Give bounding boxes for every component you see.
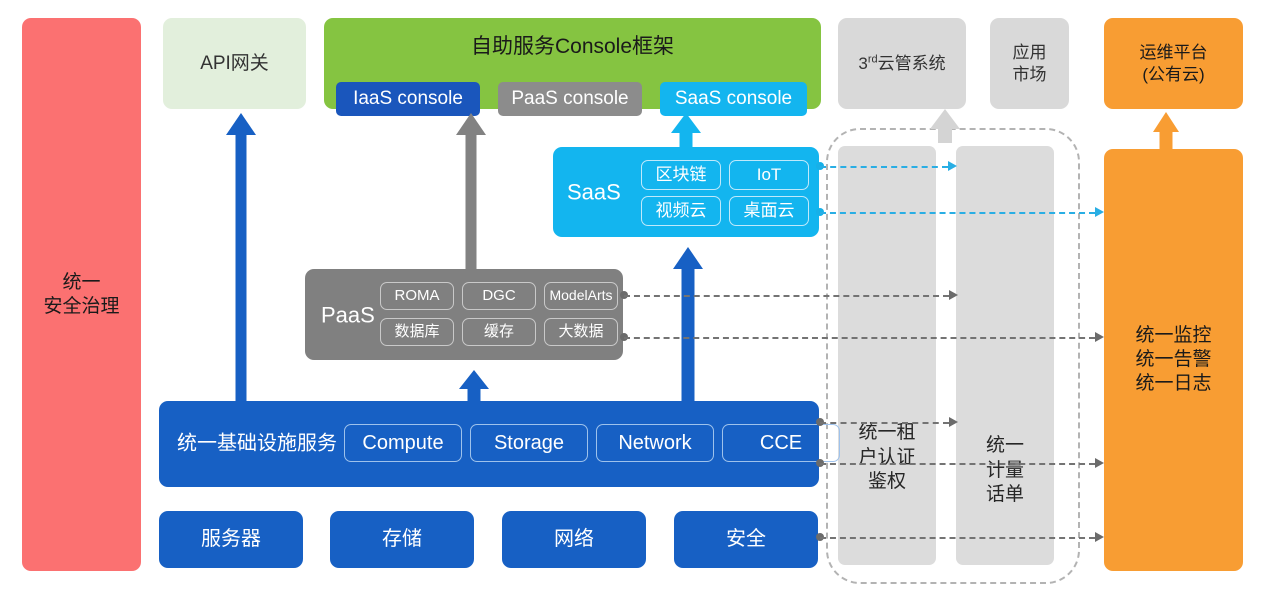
billing-line3: 话单 xyxy=(986,484,1024,505)
saas-console-chip[interactable]: SaaS console xyxy=(660,82,807,116)
connector-arrowhead-paas-auth xyxy=(949,290,958,300)
paas-tile-dgc[interactable]: DGC xyxy=(462,282,536,310)
arrow-infra-to-saas xyxy=(673,247,703,401)
arrow-saas-to-saas-console xyxy=(671,113,701,147)
connector-arrowhead-infra-auth xyxy=(949,417,958,427)
api-gateway-label: API网关 xyxy=(200,52,269,76)
paas-tile-bigdata[interactable]: 大数据 xyxy=(544,318,618,346)
connector-arrowhead-infra-ops xyxy=(1095,458,1104,468)
iaas-console-label: IaaS console xyxy=(353,87,463,111)
unified-billing-label: 统一 计量 话单 xyxy=(956,434,1054,508)
infra-tile-compute[interactable]: Compute xyxy=(344,424,462,462)
infra-tile-compute-label: Compute xyxy=(362,431,443,456)
unified-tenant-auth-label: 统一租 户认证 鉴权 xyxy=(838,421,936,495)
connector-saas-to-ops xyxy=(820,212,1095,214)
app-market-box[interactable]: 应用 市场 xyxy=(990,18,1069,109)
unified-billing-bar[interactable]: 统一 计量 话单 xyxy=(956,146,1054,565)
infra-tile-network-label: Network xyxy=(618,431,691,456)
resource-box-server-label: 服务器 xyxy=(201,527,261,552)
ops-column-line3: 统一日志 xyxy=(1135,372,1211,396)
saas-tile-desktop-cloud[interactable]: 桌面云 xyxy=(729,196,809,226)
third-party-suffix: 云管系统 xyxy=(878,54,946,73)
infra-tile-storage[interactable]: Storage xyxy=(470,424,588,462)
paas-tile-bigdata-label: 大数据 xyxy=(558,323,603,342)
app-market-line1: 应用 xyxy=(1013,42,1047,63)
resource-box-network-label: 网络 xyxy=(554,527,594,552)
paas-layer-label: PaaS xyxy=(321,301,375,329)
paas-tile-cache[interactable]: 缓存 xyxy=(462,318,536,346)
arrow-paas-to-console xyxy=(456,113,486,269)
connector-arrowhead-saas-ops xyxy=(1095,207,1104,217)
paas-console-label: PaaS console xyxy=(511,87,628,111)
billing-line1: 统一 xyxy=(986,435,1024,456)
unified-tenant-auth-bar[interactable]: 统一租 户认证 鉴权 xyxy=(838,146,936,565)
connector-saas-to-auth xyxy=(820,166,948,168)
infra-tile-storage-label: Storage xyxy=(494,431,564,456)
ops-platform-box[interactable]: 运维平台 (公有云) xyxy=(1104,18,1243,109)
paas-tile-dgc-label: DGC xyxy=(482,287,515,306)
connector-arrowhead-resources-ops xyxy=(1095,532,1104,542)
arrow-infra-to-api-gateway xyxy=(226,113,256,401)
resource-box-security[interactable]: 安全 xyxy=(674,511,818,568)
paas-tile-database[interactable]: 数据库 xyxy=(380,318,454,346)
resource-box-server[interactable]: 服务器 xyxy=(159,511,303,568)
saas-tile-iot[interactable]: IoT xyxy=(729,160,809,190)
paas-tile-cache-label: 缓存 xyxy=(484,323,514,342)
arrow-infra-to-paas xyxy=(459,370,489,401)
resource-box-storage[interactable]: 存储 xyxy=(330,511,474,568)
paas-layer-block[interactable]: PaaS ROMA DGC ModelArts 数据库 缓存 大数据 xyxy=(305,269,623,360)
saas-tile-video-cloud[interactable]: 视频云 xyxy=(641,196,721,226)
paas-tile-modelarts-label: ModelArts xyxy=(549,287,612,305)
security-governance-pillar[interactable]: 统一 安全治理 xyxy=(22,18,141,571)
resource-box-storage-label: 存储 xyxy=(382,527,422,552)
console-frame-title: 自助服务Console框架 xyxy=(324,34,821,60)
resource-box-security-label: 安全 xyxy=(726,527,766,552)
self-service-console-frame[interactable]: 自助服务Console框架 IaaS console PaaS console … xyxy=(324,18,821,109)
saas-tile-iot-label: IoT xyxy=(757,164,782,185)
ops-column-line2: 统一告警 xyxy=(1135,348,1211,372)
connector-infra-to-ops xyxy=(820,463,1095,465)
unified-infrastructure-label: 统一基础设施服务 xyxy=(177,432,337,457)
infra-tile-cce[interactable]: CCE xyxy=(722,424,840,462)
auth-line3: 鉴权 xyxy=(868,471,906,492)
unified-infrastructure-bar[interactable]: 统一基础设施服务 Compute Storage Network CCE xyxy=(159,401,819,487)
arrow-middleware-to-third-party xyxy=(930,109,960,143)
saas-tile-video-cloud-label: 视频云 xyxy=(656,200,707,221)
infra-tile-network[interactable]: Network xyxy=(596,424,714,462)
third-party-prefix: 3 xyxy=(858,54,867,73)
iaas-console-chip[interactable]: IaaS console xyxy=(336,82,480,116)
paas-tile-roma[interactable]: ROMA xyxy=(380,282,454,310)
third-party-superscript: rd xyxy=(868,53,878,65)
security-pillar-line2: 安全治理 xyxy=(43,295,119,319)
saas-layer-block[interactable]: SaaS 区块链 IoT 视频云 桌面云 xyxy=(553,147,819,237)
saas-tile-blockchain-label: 区块链 xyxy=(656,164,707,185)
paas-tile-roma-label: ROMA xyxy=(395,287,440,306)
saas-console-label: SaaS console xyxy=(675,87,792,111)
connector-paas-to-auth xyxy=(624,295,949,297)
paas-tile-modelarts[interactable]: ModelArts xyxy=(544,282,618,310)
ops-platform-line2: (公有云) xyxy=(1140,64,1208,85)
saas-tile-blockchain[interactable]: 区块链 xyxy=(641,160,721,190)
paas-tile-database-label: 数据库 xyxy=(394,323,439,342)
security-pillar-line1: 统一 xyxy=(43,271,119,295)
connector-arrowhead-paas-ops xyxy=(1095,332,1104,342)
connector-infra-to-auth xyxy=(820,422,949,424)
app-market-line2: 市场 xyxy=(1013,64,1047,85)
ops-platform-line1: 运维平台 xyxy=(1140,42,1208,63)
third-party-cloud-management-box[interactable]: 3rd云管系统 xyxy=(838,18,966,109)
connector-paas-to-ops xyxy=(624,337,1095,339)
connector-resources-to-ops xyxy=(820,537,1095,539)
connector-arrowhead-saas-auth xyxy=(948,161,957,171)
paas-console-chip[interactable]: PaaS console xyxy=(498,82,642,116)
arrow-middleware-to-ops-platform xyxy=(1151,112,1181,150)
infra-tile-cce-label: CCE xyxy=(760,431,802,456)
ops-column-line1: 统一监控 xyxy=(1135,324,1211,348)
api-gateway-box[interactable]: API网关 xyxy=(163,18,306,109)
auth-line1: 统一租 xyxy=(858,422,915,443)
saas-layer-label: SaaS xyxy=(567,178,621,206)
architecture-diagram-canvas: 统一 安全治理 API网关 自助服务Console框架 IaaS console… xyxy=(0,0,1265,605)
saas-tile-desktop-cloud-label: 桌面云 xyxy=(744,200,795,221)
ops-monitoring-column[interactable]: 统一监控 统一告警 统一日志 xyxy=(1104,149,1243,571)
resource-box-network[interactable]: 网络 xyxy=(502,511,646,568)
